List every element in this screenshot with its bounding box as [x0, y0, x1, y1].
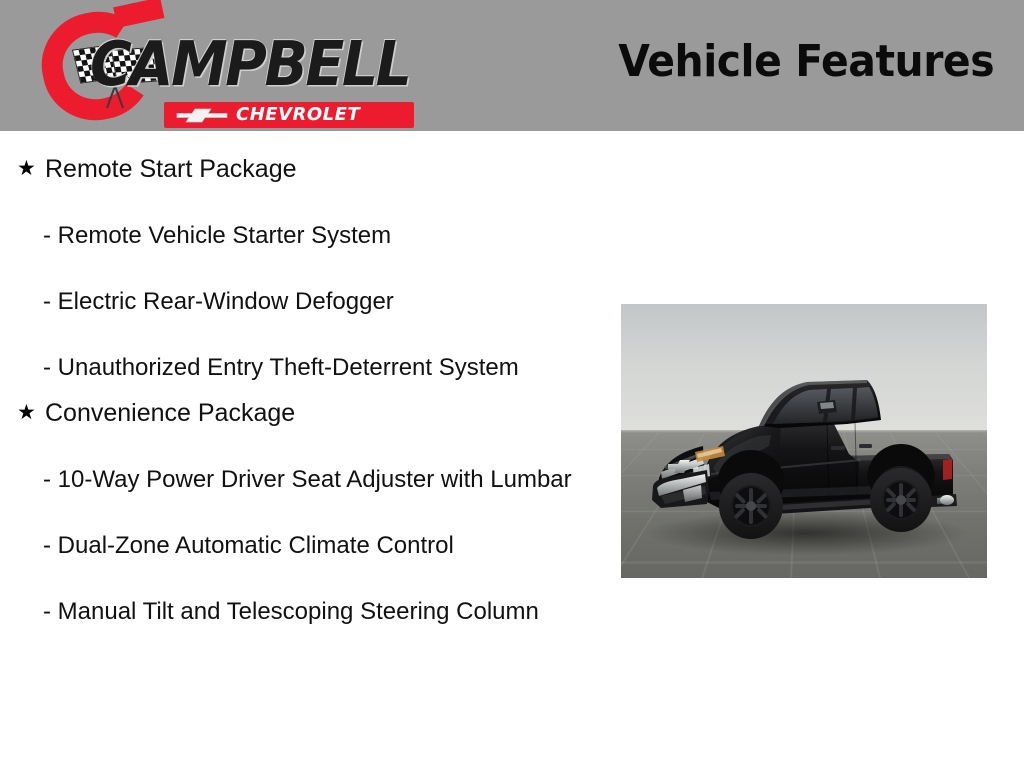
feature-group: ★ Convenience Package - 10-Way Power Dri…	[0, 396, 600, 628]
chevrolet-bowtie-icon	[176, 108, 228, 123]
pickup-truck-illustration	[631, 328, 977, 578]
feature-item: - Remote Vehicle Starter System	[0, 219, 600, 252]
logo-brand-word: CAMPBELL	[90, 34, 409, 96]
feature-group-title: ★ Convenience Package	[0, 396, 600, 430]
feature-item: - Unauthorized Entry Theft-Deterrent Sys…	[0, 351, 600, 384]
feature-group-title-text: Remote Start Package	[45, 155, 297, 183]
feature-item: - 10-Way Power Driver Seat Adjuster with…	[0, 463, 600, 496]
vehicle-photo	[621, 304, 987, 578]
feature-group-title-text: Convenience Package	[45, 399, 295, 427]
features-list: ★ Remote Start Package - Remote Vehicle …	[0, 140, 600, 628]
dealer-logo[interactable]: CAMPBELL CHEVROLET	[42, 10, 387, 125]
star-bullet-icon: ★	[17, 152, 36, 186]
page-title: Vehicle Features	[618, 36, 994, 88]
feature-item: - Electric Rear-Window Defogger	[0, 285, 600, 318]
feature-item: - Dual-Zone Automatic Climate Control	[0, 529, 600, 562]
chevrolet-bar: CHEVROLET	[164, 102, 414, 128]
star-bullet-icon: ★	[17, 396, 36, 430]
chevrolet-wordmark: CHEVROLET	[236, 105, 360, 125]
header-band: CAMPBELL CHEVROLET Vehicle Features	[0, 0, 1024, 131]
feature-group: ★ Remote Start Package - Remote Vehicle …	[0, 152, 600, 384]
feature-item: - Manual Tilt and Telescoping Steering C…	[0, 595, 600, 628]
feature-group-title: ★ Remote Start Package	[0, 152, 600, 186]
